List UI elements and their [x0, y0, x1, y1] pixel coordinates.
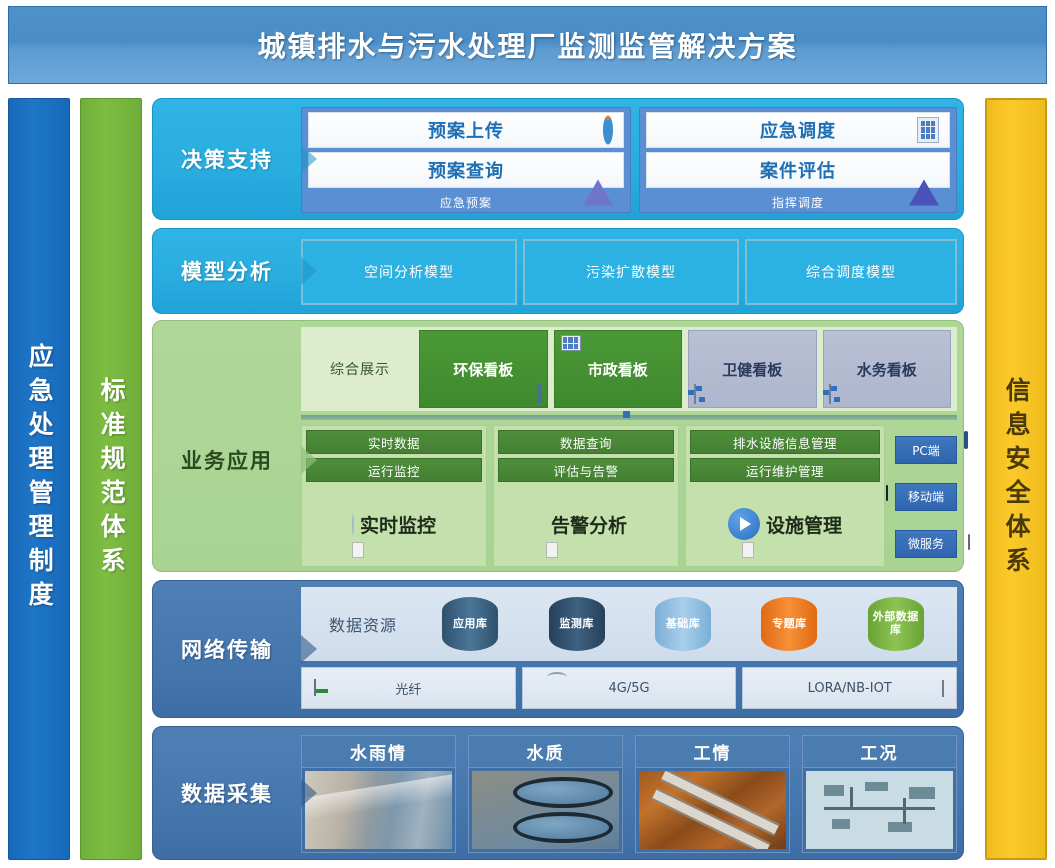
business-pill[interactable]: 排水设施信息管理	[690, 430, 880, 454]
kanban-water[interactable]: 水务看板	[823, 330, 952, 408]
sidebar-security-label: 信息安全体系	[1003, 377, 1029, 581]
business-feature-label: 实时监控	[360, 511, 436, 538]
database-thematic[interactable]: 专题库	[761, 597, 817, 651]
business-feature-realtime-monitoring[interactable]: 实时监控	[306, 486, 482, 562]
network-transmission-label-wrap: 网络传输	[153, 581, 301, 717]
data-card-water-quality[interactable]: 水质	[468, 735, 623, 853]
business-feature-label: 设施管理	[766, 511, 842, 538]
chevron-right-icon	[301, 145, 317, 173]
device-microservice[interactable]: 微服务	[895, 530, 957, 558]
decision-group-footer: 指挥调度	[646, 192, 950, 212]
data-resource-label: 数据资源	[309, 612, 417, 636]
business-application-label-wrap: 业务应用	[153, 321, 301, 571]
database-basic[interactable]: 基础库	[655, 597, 711, 651]
flow-icon	[694, 385, 696, 403]
data-card-label: 水雨情	[302, 736, 455, 768]
database-monitoring[interactable]: 监测库	[549, 597, 605, 651]
play-circle-icon	[728, 508, 760, 540]
business-pill[interactable]: 实时数据	[306, 430, 482, 454]
model-label: 综合调度模型	[806, 262, 896, 282]
business-column-alarm: 数据查询 评估与告警 告警分析	[493, 425, 679, 567]
page-title-banner: 城镇排水与污水处理厂监测监管解决方案	[8, 6, 1047, 84]
sidebar-information-security: 信息安全体系	[985, 98, 1047, 860]
architecture-stack: 决策支持 预案上传 预案查询 应急预案 应急调度 案件评估	[152, 98, 964, 860]
database-label: 应用库	[453, 618, 488, 631]
decision-item-case-assessment[interactable]: 案件评估	[646, 152, 950, 188]
transmission-label: 4G/5G	[608, 681, 649, 696]
chevron-right-icon	[301, 635, 317, 663]
transmission-label: 光纤	[395, 679, 421, 698]
data-resource-strip: 数据资源 应用库 监测库 基础库 专题库	[301, 587, 957, 661]
divider-marker	[623, 411, 630, 418]
decision-group-command-dispatch: 应急调度 案件评估 指挥调度	[639, 107, 957, 213]
business-pill[interactable]: 运行维护管理	[690, 458, 880, 482]
layer-network-transmission: 网络传输 数据资源 应用库 监测库 基础库	[152, 580, 964, 718]
model-box-pollution[interactable]: 污染扩散模型	[523, 239, 739, 305]
transmission-fiber[interactable]: 光纤	[301, 667, 516, 709]
business-pill[interactable]: 运行监控	[306, 458, 482, 482]
device-label: 移动端	[908, 488, 944, 505]
document-icon	[352, 542, 364, 558]
handset-icon	[968, 535, 970, 549]
pipeline-photo	[639, 771, 786, 849]
kanban-municipal[interactable]: 市政看板	[554, 330, 683, 408]
data-collection-cards: 水雨情 水质 工情 工况	[301, 735, 957, 853]
data-card-label: 工况	[803, 736, 956, 768]
database-application[interactable]: 应用库	[442, 597, 498, 651]
mobile-phone-icon	[886, 486, 888, 500]
network-transmission-label: 网络传输	[181, 634, 273, 664]
decision-support-label: 决策支持	[181, 144, 273, 174]
business-column-facility: 排水设施信息管理 运行维护管理 设施管理	[685, 425, 885, 567]
decision-group-footer: 应急预案	[308, 192, 624, 212]
device-label: PC端	[912, 442, 940, 459]
grid-table-icon	[917, 117, 939, 143]
chevron-right-icon	[301, 257, 317, 285]
device-label: 微服务	[908, 535, 944, 552]
decision-item-label: 预案查询	[428, 157, 504, 183]
kanban-strip: 综合展示 环保看板 市政看板 卫健看板 水务看板	[301, 327, 957, 411]
device-mobile[interactable]: 移动端	[895, 483, 957, 511]
chevron-right-icon	[301, 446, 317, 474]
business-feature-label: 告警分析	[551, 511, 627, 538]
data-card-operating-condition[interactable]: 工况	[802, 735, 957, 853]
data-collection-label-wrap: 数据采集	[153, 727, 301, 859]
kanban-label: 水务看板	[857, 359, 917, 380]
decision-group-emergency-plan: 预案上传 预案查询 应急预案	[301, 107, 631, 213]
device-endpoint-list: PC端 移动端 微服务	[895, 427, 957, 567]
table-grid-icon	[561, 335, 581, 351]
business-application-label: 业务应用	[181, 445, 273, 475]
transmission-row: 光纤 4G/5G LORA/NB-IOT	[301, 667, 957, 709]
chevron-right-icon	[301, 779, 317, 807]
layer-business-application: 业务应用 综合展示 环保看板 市政看板 卫健看板 水务看	[152, 320, 964, 572]
data-collection-label: 数据采集	[181, 778, 273, 808]
monitor-icon	[537, 385, 541, 403]
switch-icon	[314, 680, 316, 695]
transmission-lora[interactable]: LORA/NB-IOT	[742, 667, 957, 709]
decision-item-label: 应急调度	[760, 117, 836, 143]
business-column-monitoring: 实时数据 运行监控 实时监控	[301, 425, 487, 567]
business-pill[interactable]: 数据查询	[498, 430, 674, 454]
flow-icon	[829, 385, 831, 403]
model-analysis-label: 模型分析	[181, 256, 273, 286]
transmission-4g5g[interactable]: 4G/5G	[522, 667, 737, 709]
business-feature-alarm-analysis[interactable]: 告警分析	[498, 486, 674, 562]
sidebar-standard-system: 标准规范体系	[80, 98, 142, 860]
pyramid-dark-icon	[909, 161, 939, 180]
kanban-group-label: 综合展示	[304, 330, 416, 408]
data-card-label: 水质	[469, 736, 622, 768]
page-title: 城镇排水与污水处理厂监测监管解决方案	[257, 25, 797, 65]
database-external[interactable]: 外部数据库	[868, 597, 924, 651]
business-pill[interactable]: 评估与告警	[498, 458, 674, 482]
kanban-label: 市政看板	[588, 359, 648, 380]
decision-item-emergency-dispatch[interactable]: 应急调度	[646, 112, 950, 148]
kanban-label: 卫健看板	[722, 359, 782, 380]
decision-support-label-wrap: 决策支持	[153, 99, 301, 219]
database-label: 监测库	[559, 618, 594, 631]
database-label: 基础库	[666, 618, 701, 631]
layer-data-collection: 数据采集 水雨情 水质 工情	[152, 726, 964, 860]
laptop-icon	[964, 433, 968, 447]
decision-item-plan-query[interactable]: 预案查询	[308, 152, 624, 188]
treatment-tank-photo	[472, 771, 619, 849]
business-feature-facility-management[interactable]: 设施管理	[690, 486, 880, 562]
document-icon	[742, 542, 754, 558]
globe-icon	[352, 515, 354, 534]
decision-item-plan-upload[interactable]: 预案上传	[308, 112, 624, 148]
layer-decision-support: 决策支持 预案上传 预案查询 应急预案 应急调度 案件评估	[152, 98, 964, 220]
sidebar-emergency-label: 应急处理管理制度	[26, 343, 52, 615]
pyramid-icon	[583, 161, 613, 180]
kanban-label: 环保看板	[453, 359, 513, 380]
lora-device-icon	[942, 681, 944, 696]
cycle-icon	[603, 121, 613, 140]
canal-photo	[305, 771, 452, 849]
kanban-health[interactable]: 卫健看板	[688, 330, 817, 408]
layer-model-analysis: 模型分析 空间分析模型 污染扩散模型 综合调度模型	[152, 228, 964, 314]
database-label: 专题库	[772, 618, 807, 631]
document-icon	[546, 542, 558, 558]
model-analysis-label-wrap: 模型分析	[153, 229, 301, 313]
decision-item-label: 预案上传	[428, 117, 504, 143]
device-pc[interactable]: PC端	[895, 436, 957, 464]
sidebar-standard-label: 标准规范体系	[98, 377, 124, 581]
kanban-environment[interactable]: 环保看板	[419, 330, 548, 408]
data-card-rainfall[interactable]: 水雨情	[301, 735, 456, 853]
sidebar-emergency-management: 应急处理管理制度	[8, 98, 70, 860]
data-card-project-status[interactable]: 工情	[635, 735, 790, 853]
model-label: 污染扩散模型	[586, 262, 676, 282]
data-card-label: 工情	[636, 736, 789, 768]
model-box-spatial[interactable]: 空间分析模型	[301, 239, 517, 305]
model-label: 空间分析模型	[364, 262, 454, 282]
scada-diagram	[806, 771, 953, 849]
transmission-label: LORA/NB-IOT	[808, 681, 892, 696]
decision-item-label: 案件评估	[760, 157, 836, 183]
model-box-dispatch[interactable]: 综合调度模型	[745, 239, 957, 305]
database-label: 外部数据库	[868, 611, 924, 636]
database-list: 应用库 监测库 基础库 专题库 外部数据库	[417, 597, 949, 651]
